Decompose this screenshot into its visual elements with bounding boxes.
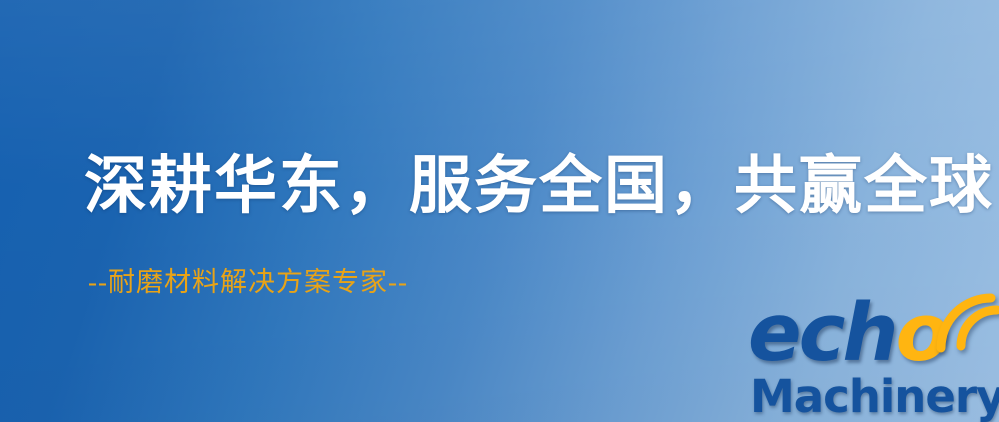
banner-headline: 深耕华东，服务全国，共赢全球: [84, 152, 994, 220]
logo-tagline-row: Machinery ®: [750, 370, 999, 422]
logo-text-ech: ech: [748, 296, 896, 371]
banner-subtitle: --耐磨材料解决方案专家--: [88, 266, 408, 298]
hero-banner: 深耕华东，服务全国，共赢全球 --耐磨材料解决方案专家-- ech o Mach…: [0, 0, 999, 422]
logo-wordmark: ech o: [748, 296, 948, 374]
echo-machinery-logo[interactable]: ech o Machinery ®: [748, 296, 999, 422]
signal-arcs-icon: [935, 292, 999, 354]
logo-text-machinery: Machinery: [750, 370, 999, 422]
